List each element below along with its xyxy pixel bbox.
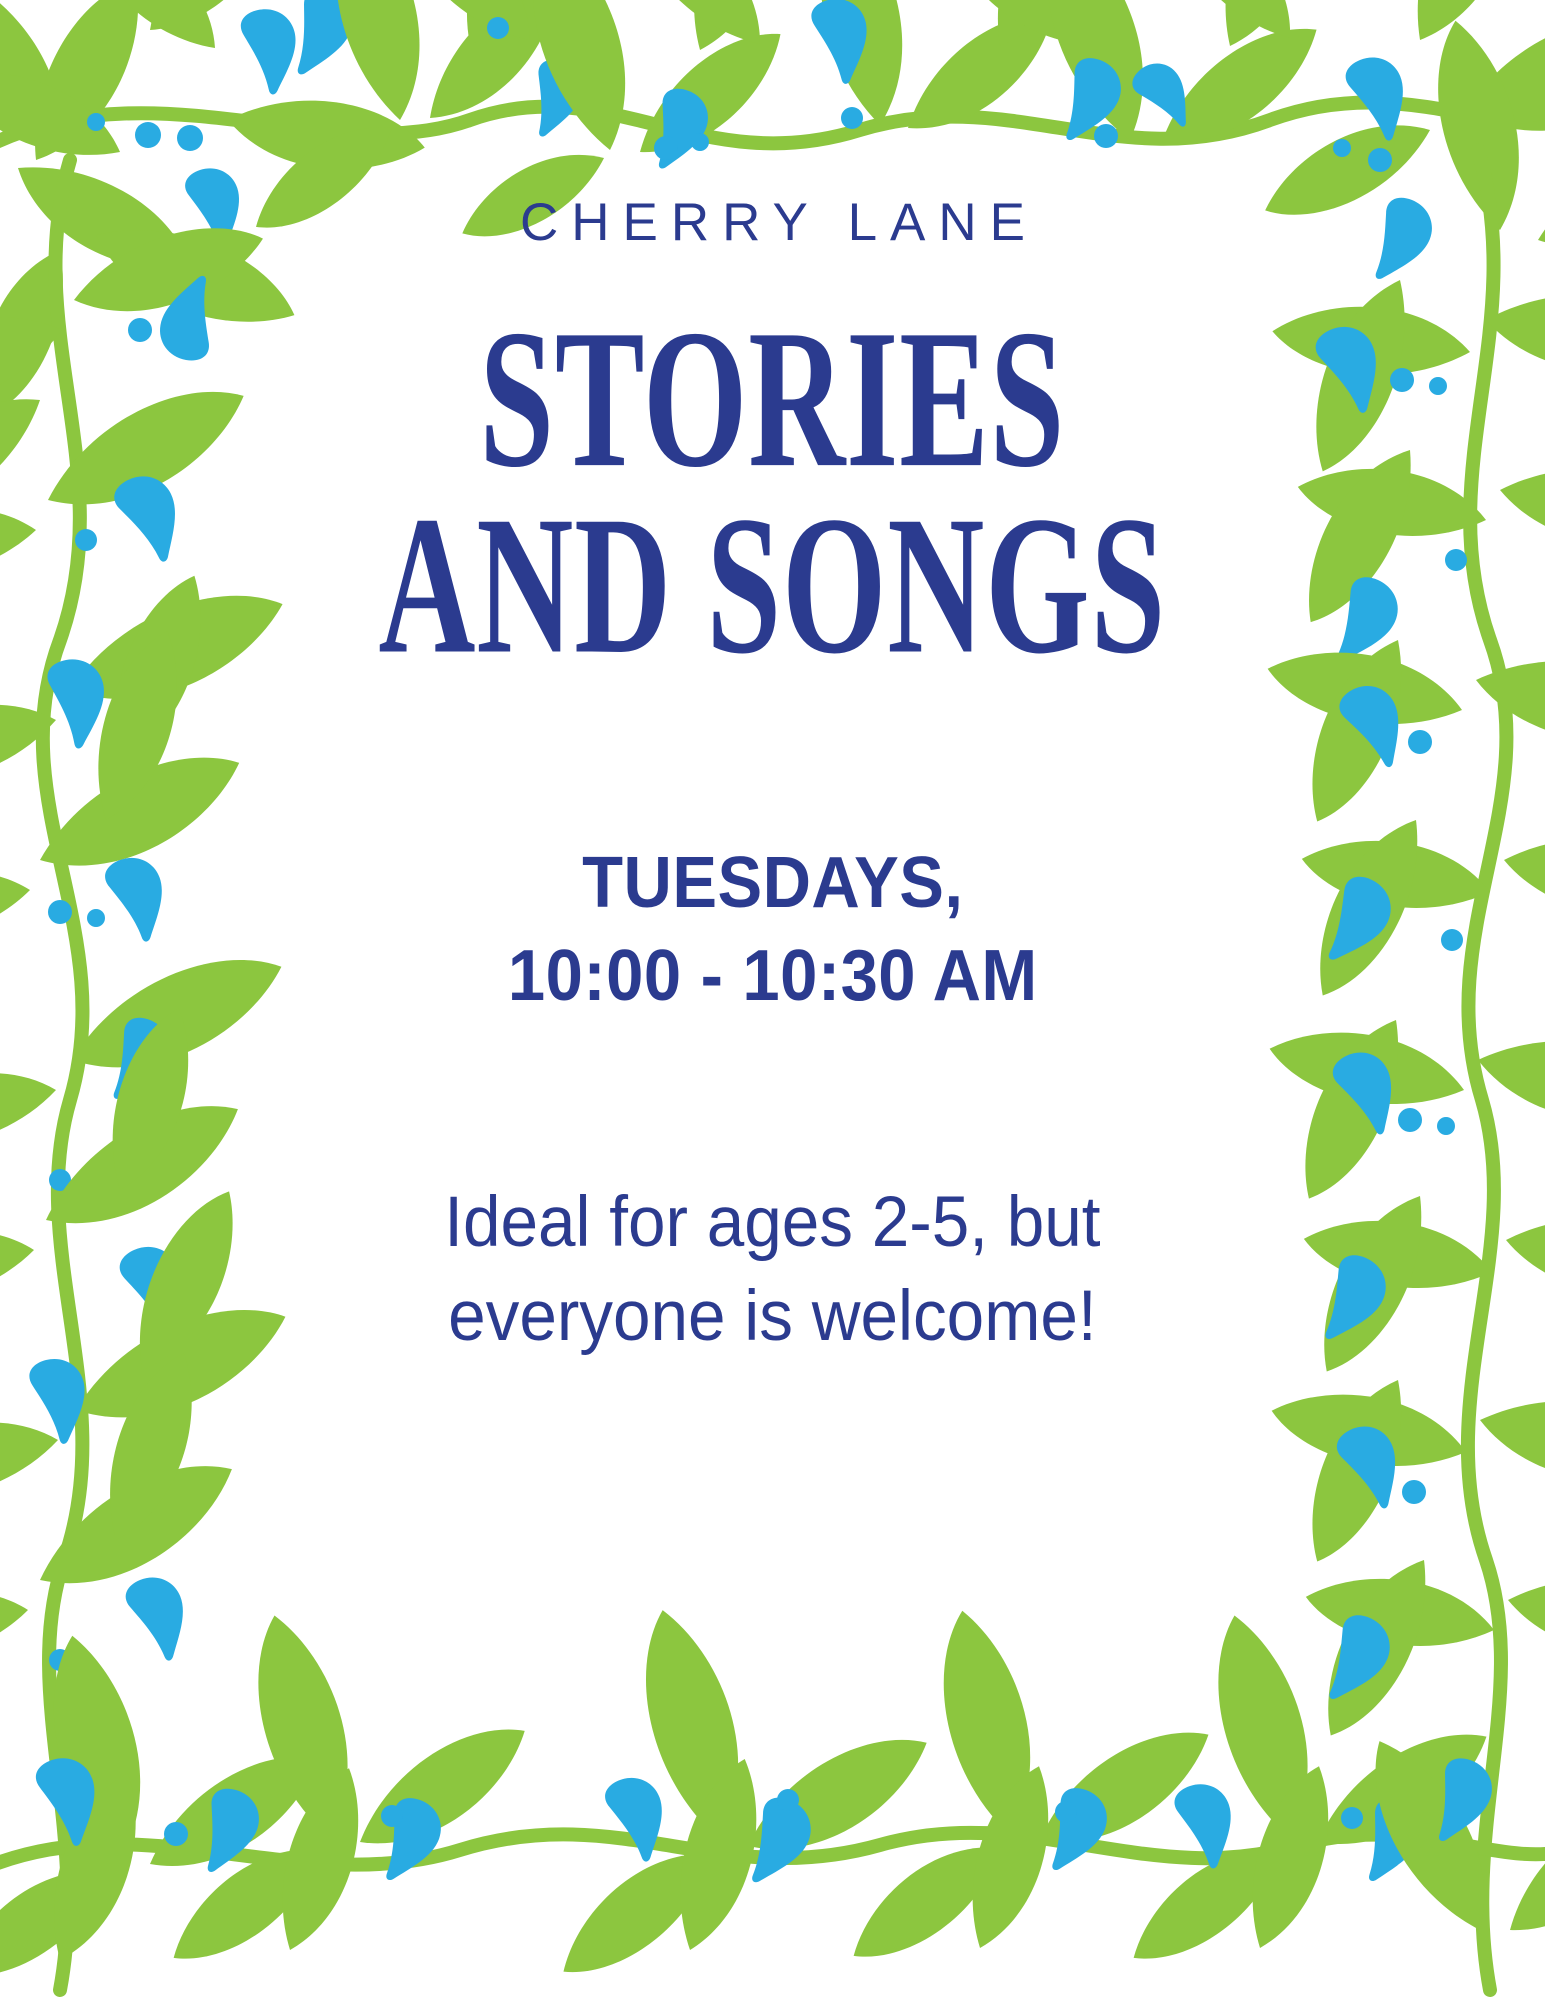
event-day: TUESDAYS, — [508, 837, 1038, 931]
event-description: Ideal for ages 2-5, but everyone is welc… — [444, 1176, 1100, 1365]
organization-name: CHERRY LANE — [507, 196, 1038, 249]
poster-title-line-2: AND SONGS — [379, 493, 1167, 679]
poster-canvas: CHERRY LANE STORIES AND SONGS TUESDAYS, … — [0, 0, 1545, 2000]
event-description-line-1: Ideal for ages 2-5, but — [444, 1176, 1100, 1270]
poster-title: STORIES AND SONGS — [379, 307, 1167, 680]
poster-content: CHERRY LANE STORIES AND SONGS TUESDAYS, … — [0, 0, 1545, 2000]
event-schedule: TUESDAYS, 10:00 - 10:30 AM — [508, 837, 1038, 1024]
poster-title-line-1: STORIES — [379, 307, 1167, 493]
event-time: 10:00 - 10:30 AM — [508, 930, 1038, 1024]
event-description-line-2: everyone is welcome! — [444, 1270, 1100, 1364]
